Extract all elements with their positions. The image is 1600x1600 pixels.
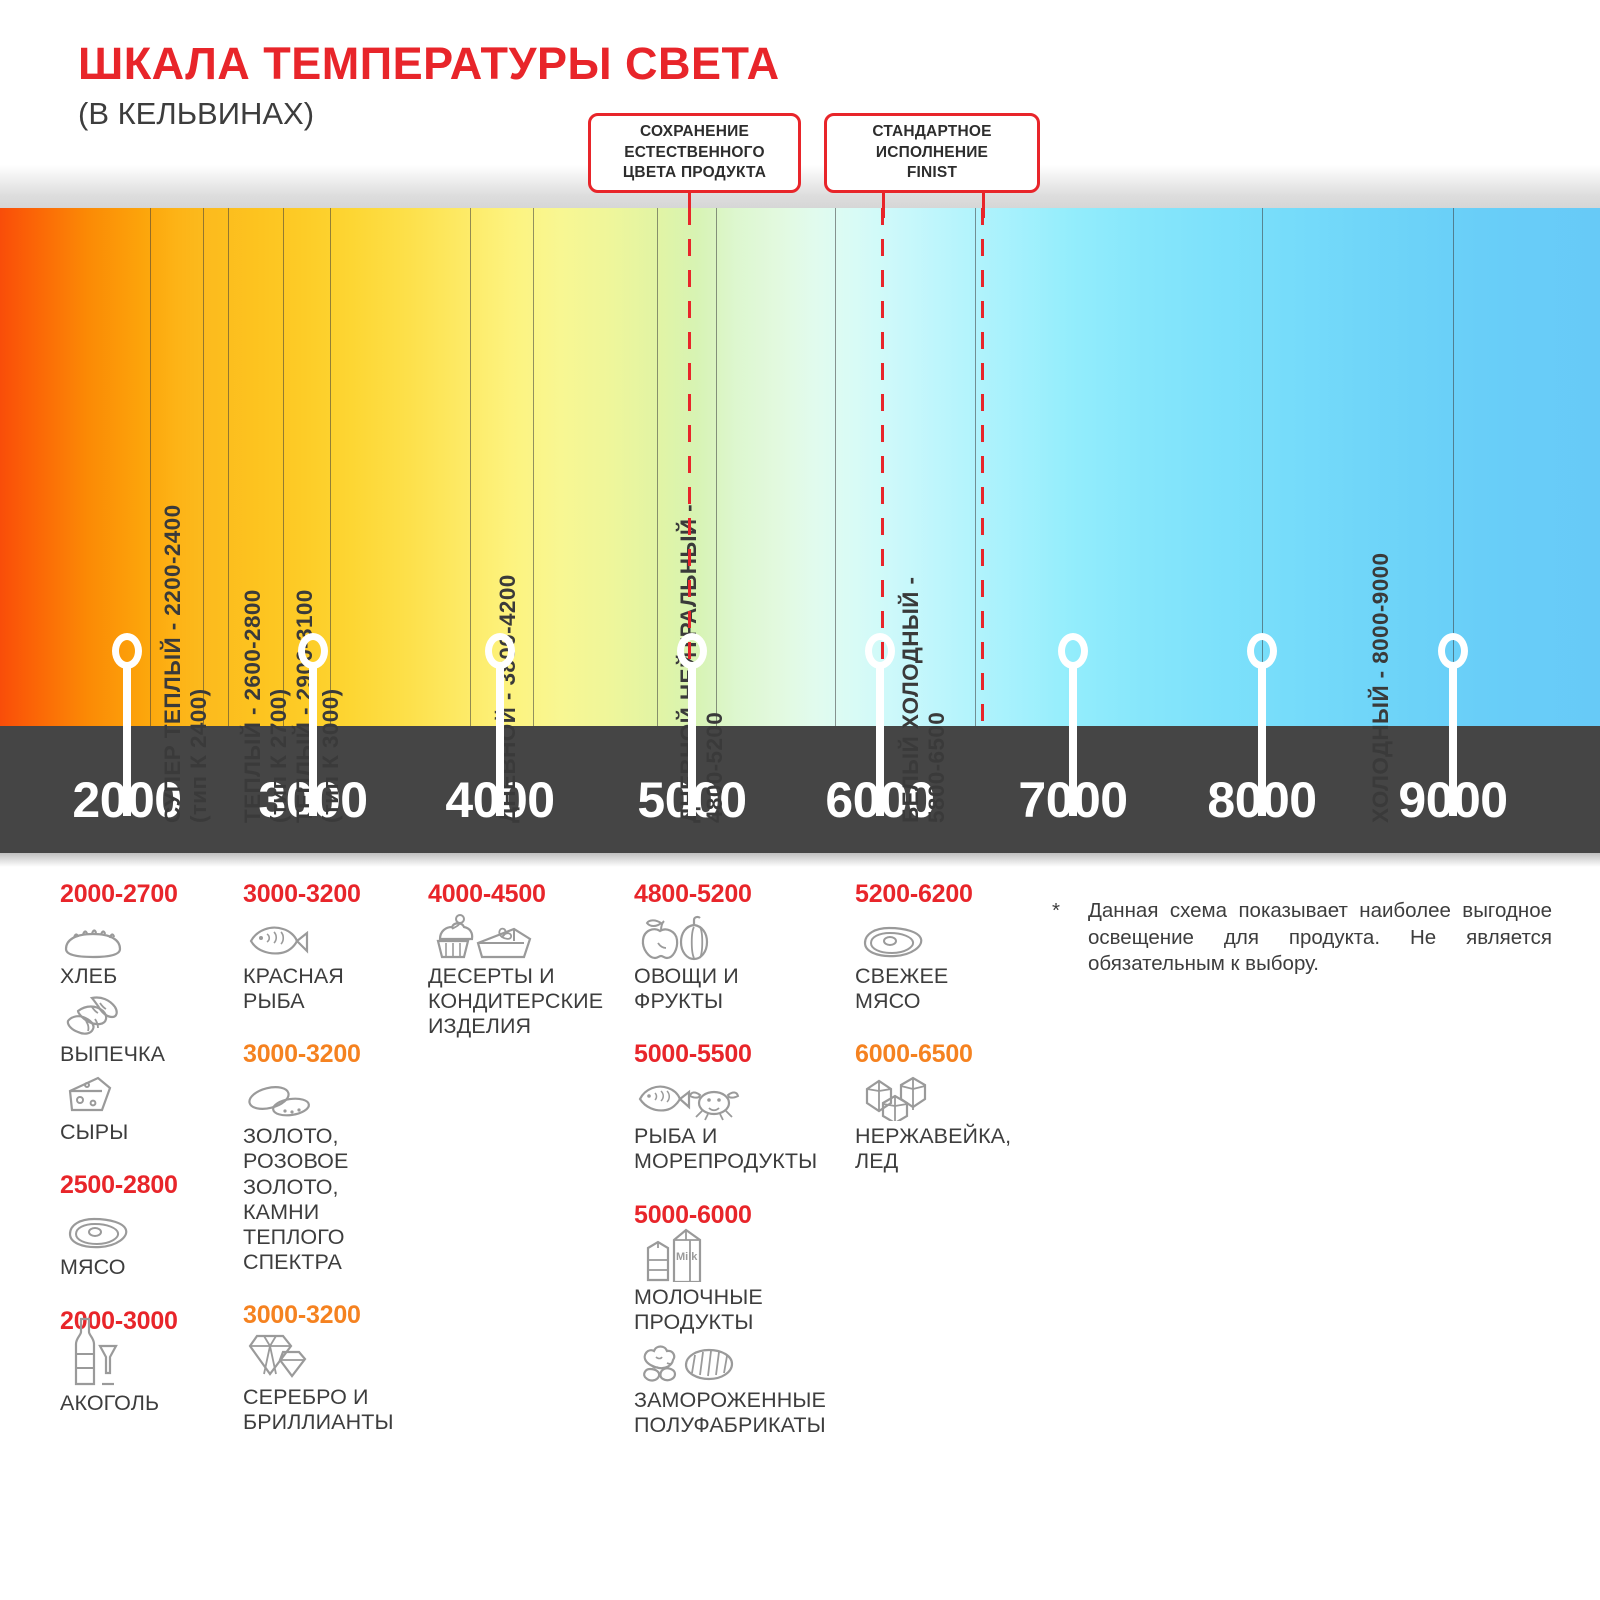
gradient-divider-7: [657, 208, 658, 726]
band-label-daylight-neutral-sub: 4800-5200: [702, 504, 728, 823]
legend-item: СЕРЕБРО И БРИЛЛИАНТЫ: [243, 1336, 423, 1435]
band-label-cold: ХОЛОДНЫЙ - 8000-9000: [1368, 553, 1394, 823]
range-label: 3000-3200: [243, 1301, 423, 1330]
pin-stem: [688, 663, 696, 816]
band-label-white-cold-sub: 5800-6500: [924, 577, 950, 823]
band-label-warm-3000: ТЕПЛЫЙ - 2900-3100(тип К 3000): [292, 589, 344, 823]
gradient-divider-2: [228, 208, 229, 726]
column-5200-6200: 5200-6200СВЕЖЕЕ МЯСО6000-6500НЕРЖАВЕЙКА,…: [855, 880, 1045, 1201]
column-5200-6200-group-1: 6000-6500НЕРЖАВЕЙКА, ЛЕД: [855, 1040, 1045, 1174]
pin-stem: [1258, 663, 1266, 816]
legend-item-label: МЯСО: [60, 1255, 235, 1280]
gradient-divider-5: [470, 208, 471, 726]
range-label: 2000-2700: [60, 880, 235, 909]
range-label: 5000-5500: [634, 1040, 849, 1069]
steak-icon: [62, 1206, 235, 1252]
pin-stem: [876, 663, 884, 816]
legend-item: MilkМОЛОЧНЫЕ ПРОДУКТЫ: [634, 1236, 849, 1335]
column-2000-2700-group-1: 2500-2800МЯСО: [60, 1171, 235, 1280]
band-label-white-cold-title: БЕЛЫЙ ХОЛОДНЫЙ -: [898, 577, 924, 823]
steak-icon: [857, 915, 1045, 961]
temperature-scale: СУПЕР ТЕПЛЫЙ - 2200-2400(тип К 2400)ТЕПЛ…: [0, 208, 1600, 858]
gradient-divider-6: [533, 208, 534, 726]
legend-item-label: ЗАМОРОЖЕННЫЕ ПОЛУФАБРИКАТЫ: [634, 1388, 849, 1438]
legend-item: МЯСО: [60, 1206, 235, 1280]
legend-item: СВЕЖЕЕ МЯСО: [855, 915, 1045, 1014]
ice-cubes-icon: [857, 1075, 1045, 1121]
band-label-super-warm-title: СУПЕР ТЕПЛЫЙ - 2200-2400: [160, 505, 186, 824]
band-label-warm-2700: ТЕПЛЫЙ - 2600-2800(тип К 2700): [240, 589, 292, 823]
column-4800-5200: 4800-5200ОВОЩИ И ФРУКТЫ5000-5500РЫБА И М…: [634, 880, 849, 1464]
footnote: * Данная схема показывает наиболее выгод…: [1052, 898, 1552, 978]
range-label: 2500-2800: [60, 1171, 235, 1200]
cheese-icon: [62, 1071, 235, 1117]
legend-item-label: ОВОЩИ И ФРУКТЫ: [634, 964, 849, 1014]
natural-color-callout-line-1: ЕСТЕСТВЕННОГО: [624, 143, 764, 164]
range-label: 3000-3200: [243, 1040, 423, 1069]
column-4000-4500-group-0: 4000-4500ДЕСЕРТЫ И КОНДИТЕРСКИЕ ИЗДЕЛИЯ: [428, 880, 623, 1039]
legend-item-label: НЕРЖАВЕЙКА, ЛЕД: [855, 1124, 1045, 1174]
column-3000-3200-group-0: 3000-3200КРАСНАЯ РЫБА: [243, 880, 423, 1014]
column-2000-2700: 2000-2700ХЛЕБВЫПЕЧКАСЫРЫ2500-2800МЯСО200…: [60, 880, 235, 1442]
legend-item-label: ВЫПЕЧКА: [60, 1042, 235, 1067]
range-label: 3000-3200: [243, 880, 423, 909]
dashed-marker-2: [981, 208, 984, 726]
cupcake-cake-icon: [430, 915, 623, 961]
legend-item-label: АКОГОЛЬ: [60, 1391, 235, 1416]
legend-item: ДЕСЕРТЫ И КОНДИТЕРСКИЕ ИЗДЕЛИЯ: [428, 915, 623, 1039]
band-label-warm-3000-sub: (тип К 3000): [318, 589, 344, 823]
range-label: 5200-6200: [855, 880, 1045, 909]
column-2000-2700-group-2: 2000-3000АКОГОЛЬ: [60, 1307, 235, 1416]
standard-finist-callout-line-0: СТАНДАРТНОЕ: [872, 122, 991, 143]
range-label: 4000-4500: [428, 880, 623, 909]
legend-item-label: ХЛЕБ: [60, 964, 235, 989]
gradient-divider-0: [150, 208, 151, 726]
band-label-super-warm-sub: (тип К 2400): [186, 505, 212, 824]
legend-item-label: РЫБА И МОРЕПРОДУКТЫ: [634, 1124, 849, 1174]
column-4800-5200-group-1: 5000-5500РЫБА И МОРЕПРОДУКТЫ: [634, 1040, 849, 1174]
pin-stem: [1069, 663, 1077, 816]
standard-finist-callout[interactable]: СТАНДАРТНОЕИСПОЛНЕНИЕFINIST: [824, 113, 1040, 193]
column-4000-4500: 4000-4500ДЕСЕРТЫ И КОНДИТЕРСКИЕ ИЗДЕЛИЯ: [428, 880, 623, 1065]
legend-item: ВЫПЕЧКА: [60, 993, 235, 1067]
frozen-food-icon: [636, 1339, 849, 1385]
svg-text:Milk: Milk: [676, 1251, 698, 1263]
column-3000-3200-group-2: 3000-3200СЕРЕБРО И БРИЛЛИАНТЫ: [243, 1301, 423, 1435]
range-label: 4800-5200: [634, 880, 849, 909]
page-title: ШКАЛА ТЕМПЕРАТУРЫ СВЕТА: [78, 38, 780, 90]
range-label: 6000-6500: [855, 1040, 1045, 1069]
footnote-star: *: [1052, 898, 1060, 925]
bottle-glass-icon: [62, 1342, 235, 1388]
legend-item: ОВОЩИ И ФРУКТЫ: [634, 915, 849, 1014]
natural-color-callout-line-2: ЦВЕТА ПРОДУКТА: [623, 163, 766, 184]
legend-item: РЫБА И МОРЕПРОДУКТЫ: [634, 1075, 849, 1174]
apple-pepper-icon: [636, 915, 849, 961]
legend-item-label: КРАСНАЯ РЫБА: [243, 964, 423, 1014]
pin-stem: [496, 663, 504, 816]
standard-finist-callout-line-2: FINIST: [907, 163, 957, 184]
column-2000-2700-group-0: 2000-2700ХЛЕБВЫПЕЧКАСЫРЫ: [60, 880, 235, 1145]
legend-item: ХЛЕБ: [60, 915, 235, 989]
column-5200-6200-group-0: 5200-6200СВЕЖЕЕ МЯСО: [855, 880, 1045, 1014]
legend-item: НЕРЖАВЕЙКА, ЛЕД: [855, 1075, 1045, 1174]
diamond-icon: [245, 1336, 423, 1382]
gradient-divider-9: [835, 208, 836, 726]
legend-item-label: СЕРЕБРО И БРИЛЛИАНТЫ: [243, 1385, 423, 1435]
standard-finist-callout-stem-0: [882, 192, 885, 218]
croissant-icon: [62, 993, 235, 1039]
band-label-super-warm: СУПЕР ТЕПЛЫЙ - 2200-2400(тип К 2400): [160, 505, 212, 824]
rings-icon: [245, 1075, 423, 1121]
legend-item-label: СЫРЫ: [60, 1120, 235, 1145]
legend: 2000-2700ХЛЕБВЫПЕЧКАСЫРЫ2500-2800МЯСО200…: [0, 880, 1600, 1600]
column-4800-5200-group-2: 5000-6000MilkМОЛОЧНЫЕ ПРОДУКТЫЗАМОРОЖЕНН…: [634, 1201, 849, 1439]
milk-carton-icon: Milk: [636, 1236, 849, 1282]
legend-item-label: СВЕЖЕЕ МЯСО: [855, 964, 1045, 1014]
column-3000-3200-group-1: 3000-3200ЗОЛОТО, РОЗОВОЕ ЗОЛОТО, КАМНИ Т…: [243, 1040, 423, 1275]
pin-stem: [1449, 663, 1457, 816]
legend-item: СЫРЫ: [60, 1071, 235, 1145]
legend-item: КРАСНАЯ РЫБА: [243, 915, 423, 1014]
footnote-text: Данная схема показывает наиболее выгодно…: [1088, 898, 1552, 978]
fish-icon: [245, 915, 423, 961]
bread-icon: [62, 915, 235, 961]
legend-item: ЗОЛОТО, РОЗОВОЕ ЗОЛОТО, КАМНИ ТЕПЛОГО СП…: [243, 1075, 423, 1275]
band-label-cold-title: ХОЛОДНЫЙ - 8000-9000: [1368, 553, 1394, 823]
legend-item-label: ЗОЛОТО, РОЗОВОЕ ЗОЛОТО, КАМНИ ТЕПЛОГО СП…: [243, 1124, 423, 1275]
page-subtitle: (В КЕЛЬВИНАХ): [78, 96, 314, 132]
legend-item-label: МОЛОЧНЫЕ ПРОДУКТЫ: [634, 1285, 849, 1335]
natural-color-callout-line-0: СОХРАНЕНИЕ: [640, 122, 749, 143]
pin-stem: [123, 663, 131, 816]
legend-item: АКОГОЛЬ: [60, 1342, 235, 1416]
legend-item-label: ДЕСЕРТЫ И КОНДИТЕРСКИЕ ИЗДЕЛИЯ: [428, 964, 623, 1039]
gradient-divider-10: [975, 208, 976, 726]
band-label-white-cold: БЕЛЫЙ ХОЛОДНЫЙ -5800-6500: [898, 577, 950, 823]
standard-finist-callout-line-1: ИСПОЛНЕНИЕ: [876, 143, 988, 164]
legend-item: ЗАМОРОЖЕННЫЕ ПОЛУФАБРИКАТЫ: [634, 1339, 849, 1438]
natural-color-callout[interactable]: СОХРАНЕНИЕЕСТЕСТВЕННОГОЦВЕТА ПРОДУКТА: [588, 113, 801, 193]
axis-bar-shadow: [0, 853, 1600, 867]
band-label-warm-2700-title: ТЕПЛЫЙ - 2600-2800: [240, 589, 266, 823]
band-label-warm-2700-sub: (тип К 2700): [266, 589, 292, 823]
column-3000-3200: 3000-3200КРАСНАЯ РЫБА3000-3200ЗОЛОТО, РО…: [243, 880, 423, 1461]
natural-color-callout-stem-0: [688, 192, 691, 218]
pin-stem: [309, 663, 317, 816]
column-4800-5200-group-0: 4800-5200ОВОЩИ И ФРУКТЫ: [634, 880, 849, 1014]
standard-finist-callout-stem-1: [982, 192, 985, 218]
fish-crab-icon: [636, 1075, 849, 1121]
